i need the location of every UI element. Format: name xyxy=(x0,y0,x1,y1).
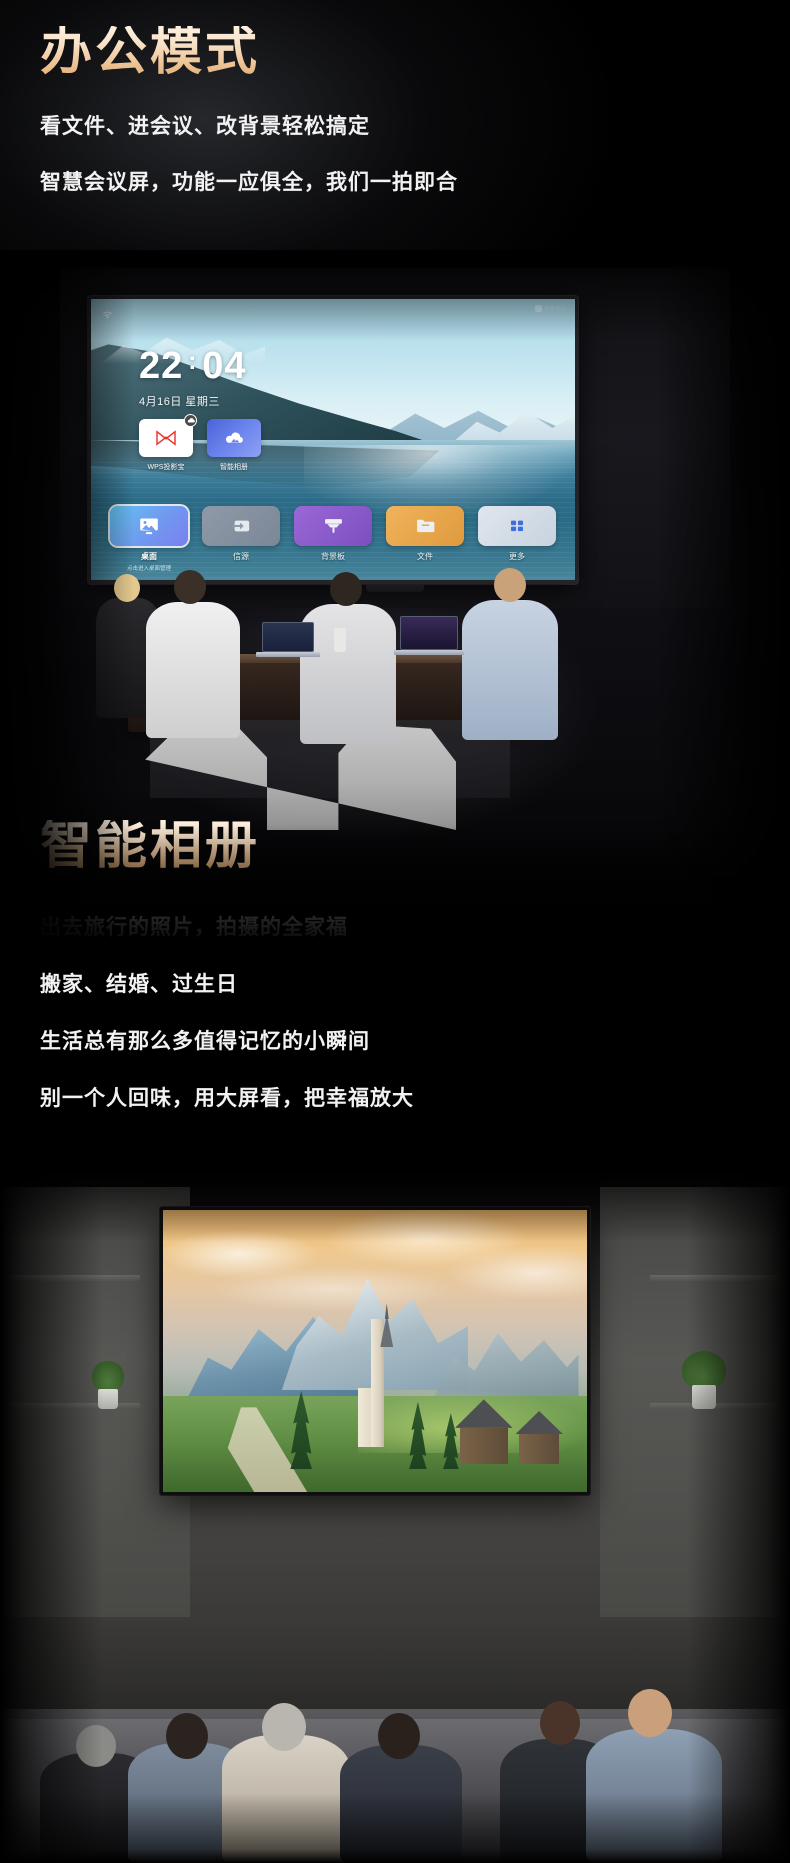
plant-left-leaves xyxy=(92,1361,124,1391)
clock-separator: : xyxy=(188,350,197,374)
dock-tile-source[interactable] xyxy=(202,506,280,546)
alpine-photo xyxy=(163,1210,587,1492)
photo-house-far xyxy=(519,1413,559,1464)
dock-item-board[interactable]: 背景板 xyxy=(294,506,372,572)
family-member-3-body xyxy=(222,1735,350,1863)
date-label: 4月16日 星期三 xyxy=(139,393,220,409)
shortcut-album[interactable]: 智能相册 xyxy=(207,419,261,472)
conference-display: 信智会议 22 : 04 4月16日 星期三 xyxy=(88,296,578,584)
living-room-photo xyxy=(0,1165,790,1863)
home-dock: 桌面 点击进入桌面管理 信源 xyxy=(91,506,575,572)
shortcut-wps-tile[interactable] xyxy=(139,419,193,457)
coffee-cup xyxy=(334,628,346,652)
person-3-body xyxy=(300,604,396,744)
family-member-6-body xyxy=(586,1729,722,1863)
person-3-head xyxy=(330,572,362,606)
family-member-6-head xyxy=(628,1689,672,1737)
section-smart-album: 智能相册 出去旅行的照片，拍摄的全家福 搬家、结婚、过生日 生活总有那么多值得记… xyxy=(0,795,790,1863)
page-title-office: 办公模式 xyxy=(40,26,260,78)
dock-label-desktop: 桌面 xyxy=(141,551,157,562)
cloud-badge-icon xyxy=(184,414,197,427)
shortcut-wps[interactable]: WPS投影宝 xyxy=(139,419,193,472)
tv-screen: 信智会议 22 : 04 4月16日 星期三 xyxy=(91,299,575,580)
dock-label-source: 信源 xyxy=(233,551,249,562)
person-4-head xyxy=(494,568,526,602)
folder-icon xyxy=(414,516,437,536)
shortcut-album-label: 智能相册 xyxy=(207,462,261,472)
person-4-body xyxy=(462,600,558,740)
shortcut-album-tile[interactable] xyxy=(207,419,261,457)
plant-right xyxy=(676,1351,732,1413)
tv-wall-mount xyxy=(366,583,424,592)
person-2-head xyxy=(174,570,206,604)
family-member-4-body xyxy=(340,1745,462,1863)
laptop-screen-left xyxy=(262,622,314,652)
plant-right-pot xyxy=(692,1385,716,1409)
brand-badge: 信智会议 xyxy=(535,305,566,312)
brand-badge-label: 信智会议 xyxy=(544,305,566,312)
photo-house-far-body xyxy=(519,1434,559,1463)
family-member-2-head xyxy=(166,1713,208,1759)
picture-icon xyxy=(137,516,161,537)
dock-item-files[interactable]: 文件 xyxy=(386,506,464,572)
plant-left-pot xyxy=(98,1389,118,1409)
shelf-right-upper xyxy=(650,1275,780,1281)
dock-label-more: 更多 xyxy=(509,551,525,562)
cloud-photo-icon xyxy=(223,430,245,447)
dock-item-desktop[interactable]: 桌面 点击进入桌面管理 xyxy=(110,506,188,572)
whiteboard-icon xyxy=(322,516,345,536)
photo-house-far-roof xyxy=(515,1411,563,1434)
dock-item-source[interactable]: 信源 xyxy=(202,506,280,572)
grid-apps-icon xyxy=(507,517,527,535)
plant-left xyxy=(86,1361,130,1411)
dock-tile-desktop[interactable] xyxy=(110,506,188,546)
product-marketing-page: 办公模式 看文件、进会议、改背景轻松搞定 智慧会议屏，功能一应俱全，我们一拍即合 xyxy=(0,0,790,1863)
photo-house-right xyxy=(460,1402,508,1464)
photo-church xyxy=(362,1283,392,1447)
clock-minutes: 04 xyxy=(202,347,246,385)
album-subline-3: 生活总有那么多值得记忆的小瞬间 xyxy=(40,1031,370,1052)
shortcut-wps-label: WPS投影宝 xyxy=(139,462,193,472)
plant-right-leaves xyxy=(682,1351,726,1389)
family-member-5-head xyxy=(540,1701,580,1745)
dock-sublabel-desktop: 点击进入桌面管理 xyxy=(127,564,171,572)
album-subline-4: 别一个人回味，用大屏看，把幸福放大 xyxy=(40,1088,414,1109)
laptop-screen-right xyxy=(400,616,458,650)
dock-tile-more[interactable] xyxy=(478,506,556,546)
living-room-display xyxy=(160,1207,590,1495)
laptop-base-right xyxy=(394,650,464,655)
brand-mark-icon xyxy=(535,305,542,312)
shortcut-row: WPS投影宝 智能相册 xyxy=(139,419,261,472)
page-title-album: 智能相册 xyxy=(40,820,260,872)
album-subline-1: 出去旅行的照片，拍摄的全家福 xyxy=(40,917,348,938)
laptop-base-left xyxy=(256,652,320,657)
photo-house-body xyxy=(460,1428,508,1464)
dock-label-files: 文件 xyxy=(417,551,433,562)
wps-bowtie-icon xyxy=(154,429,178,447)
office-subline-1: 看文件、进会议、改背景轻松搞定 xyxy=(40,116,370,137)
clock-hours: 22 xyxy=(139,347,183,385)
family-member-3-head xyxy=(262,1703,306,1751)
shelf-left-upper xyxy=(10,1275,140,1281)
dock-tile-files[interactable] xyxy=(386,506,464,546)
clock: 22 : 04 xyxy=(139,347,247,385)
dock-item-more[interactable]: 更多 xyxy=(478,506,556,572)
family-member-1-head xyxy=(76,1725,116,1767)
dock-tile-board[interactable] xyxy=(294,506,372,546)
person-1-head xyxy=(114,574,140,602)
office-subline-2: 智慧会议屏，功能一应俱全，我们一拍即合 xyxy=(40,172,458,193)
photo-church-spire xyxy=(385,1303,389,1319)
wifi-icon[interactable] xyxy=(101,307,114,318)
family-member-4-head xyxy=(378,1713,420,1759)
person-2-body xyxy=(146,602,240,738)
photo-house-roof xyxy=(455,1399,513,1428)
album-subline-2: 搬家、结婚、过生日 xyxy=(40,974,238,995)
dock-label-board: 背景板 xyxy=(321,551,345,562)
input-arrow-icon xyxy=(230,516,253,536)
photo-church-tower xyxy=(371,1319,384,1447)
